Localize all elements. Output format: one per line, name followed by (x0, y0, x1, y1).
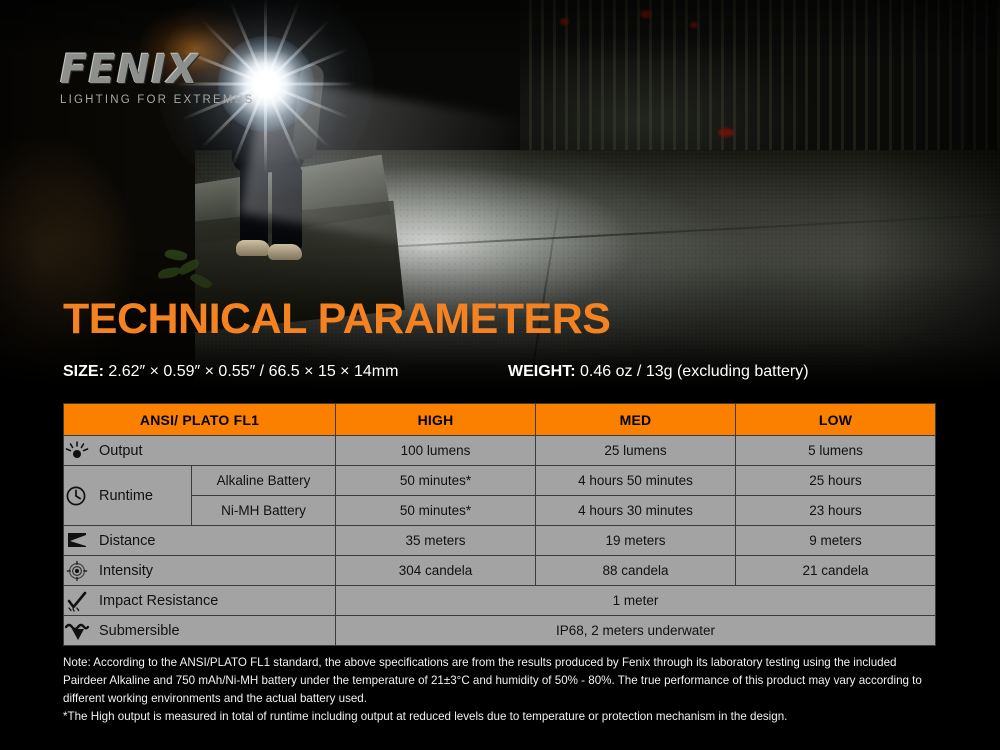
cell-runtime-alkaline-high: 50 minutes* (336, 466, 536, 496)
cell-intensity-med: 88 candela (536, 556, 736, 586)
table-header: ANSI/ PLATO FL1 HIGH MED LOW (64, 404, 936, 436)
fenix-logo: FENIX LIGHTING FOR EXTREMES (60, 50, 254, 106)
page-title: TECHNICAL PARAMETERS (63, 298, 610, 341)
weight-spec: WEIGHT: 0.46 oz / 13g (excluding battery… (508, 363, 809, 381)
row-label-impact-resistance-text: Impact Resistance (99, 593, 218, 609)
row-label-submersible: Submersible (64, 616, 336, 646)
sun-burst-icon (64, 440, 90, 462)
cell-output-low: 5 lumens (736, 436, 936, 466)
cell-runtime-nimh-low: 23 hours (736, 496, 936, 526)
specifications-table-wrapper: ANSI/ PLATO FL1 HIGH MED LOW (63, 403, 935, 646)
cell-distance-low: 9 meters (736, 526, 936, 556)
header-ansi-plato: ANSI/ PLATO FL1 (64, 404, 336, 436)
table-row-runtime-nimh: Ni-MH Battery 50 minutes* 4 hours 30 min… (64, 496, 936, 526)
cell-intensity-low: 21 candela (736, 556, 936, 586)
cell-intensity-high: 304 candela (336, 556, 536, 586)
cell-impact-resistance-value: 1 meter (336, 586, 936, 616)
table-row-impact-resistance: Impact Resistance 1 meter (64, 586, 936, 616)
table-row-output: Output 100 lumens 25 lumens 5 lumens (64, 436, 936, 466)
footnote-block: Note: According to the ANSI/PLATO FL1 st… (63, 654, 943, 726)
size-label: SIZE: (63, 363, 104, 380)
beam-distance-icon (64, 530, 90, 552)
water-wave-icon (64, 620, 90, 642)
cell-runtime-nimh-med: 4 hours 30 minutes (536, 496, 736, 526)
sublabel-nimh-battery: Ni-MH Battery (192, 496, 336, 526)
footnote-line-2: *The High output is measured in total of… (63, 708, 943, 726)
intensity-target-icon (64, 560, 90, 582)
footnote-line-1: Note: According to the ANSI/PLATO FL1 st… (63, 654, 943, 708)
cell-runtime-alkaline-low: 25 hours (736, 466, 936, 496)
sublabel-alkaline-battery: Alkaline Battery (192, 466, 336, 496)
table-header-row: ANSI/ PLATO FL1 HIGH MED LOW (64, 404, 936, 436)
row-label-submersible-text: Submersible (99, 623, 180, 639)
header-med: MED (536, 404, 736, 436)
table-row-runtime-alkaline: Runtime Alkaline Battery 50 minutes* 4 h… (64, 466, 936, 496)
cell-distance-med: 19 meters (536, 526, 736, 556)
cell-distance-high: 35 meters (336, 526, 536, 556)
cell-output-med: 25 lumens (536, 436, 736, 466)
cell-output-high: 100 lumens (336, 436, 536, 466)
row-label-impact-resistance: Impact Resistance (64, 586, 336, 616)
header-high: HIGH (336, 404, 536, 436)
cell-submersible-value: IP68, 2 meters underwater (336, 616, 936, 646)
product-spec-page: FENIX LIGHTING FOR EXTREMES TECHNICAL PA… (0, 0, 1000, 750)
size-spec: SIZE: 2.62″ × 0.59″ × 0.55″ / 66.5 × 15 … (63, 363, 398, 381)
table-row-distance: Distance 35 meters 19 meters 9 meters (64, 526, 936, 556)
cell-runtime-nimh-high: 50 minutes* (336, 496, 536, 526)
logo-wordmark: FENIX (60, 50, 254, 90)
row-label-output: Output (64, 436, 336, 466)
table-body: Output 100 lumens 25 lumens 5 lumens (64, 436, 936, 646)
size-value: 2.62″ × 0.59″ × 0.55″ / 66.5 × 15 × 14mm (108, 363, 398, 380)
impact-drop-icon (64, 590, 90, 612)
weight-value: 0.46 oz / 13g (excluding battery) (580, 363, 809, 380)
row-label-intensity-text: Intensity (99, 563, 153, 579)
row-label-runtime: Runtime (64, 466, 192, 526)
row-label-distance-text: Distance (99, 533, 155, 549)
row-label-runtime-text: Runtime (99, 488, 153, 504)
cell-runtime-alkaline-med: 4 hours 50 minutes (536, 466, 736, 496)
row-label-intensity: Intensity (64, 556, 336, 586)
weight-label: WEIGHT: (508, 363, 576, 380)
clock-icon (64, 485, 90, 507)
specifications-table: ANSI/ PLATO FL1 HIGH MED LOW (63, 403, 936, 646)
logo-tagline: LIGHTING FOR EXTREMES (60, 94, 254, 106)
table-row-intensity: Intensity 304 candela 88 candela 21 cand… (64, 556, 936, 586)
row-label-distance: Distance (64, 526, 336, 556)
header-low: LOW (736, 404, 936, 436)
table-row-submersible: Submersible IP68, 2 meters underwater (64, 616, 936, 646)
row-label-output-text: Output (99, 443, 143, 459)
